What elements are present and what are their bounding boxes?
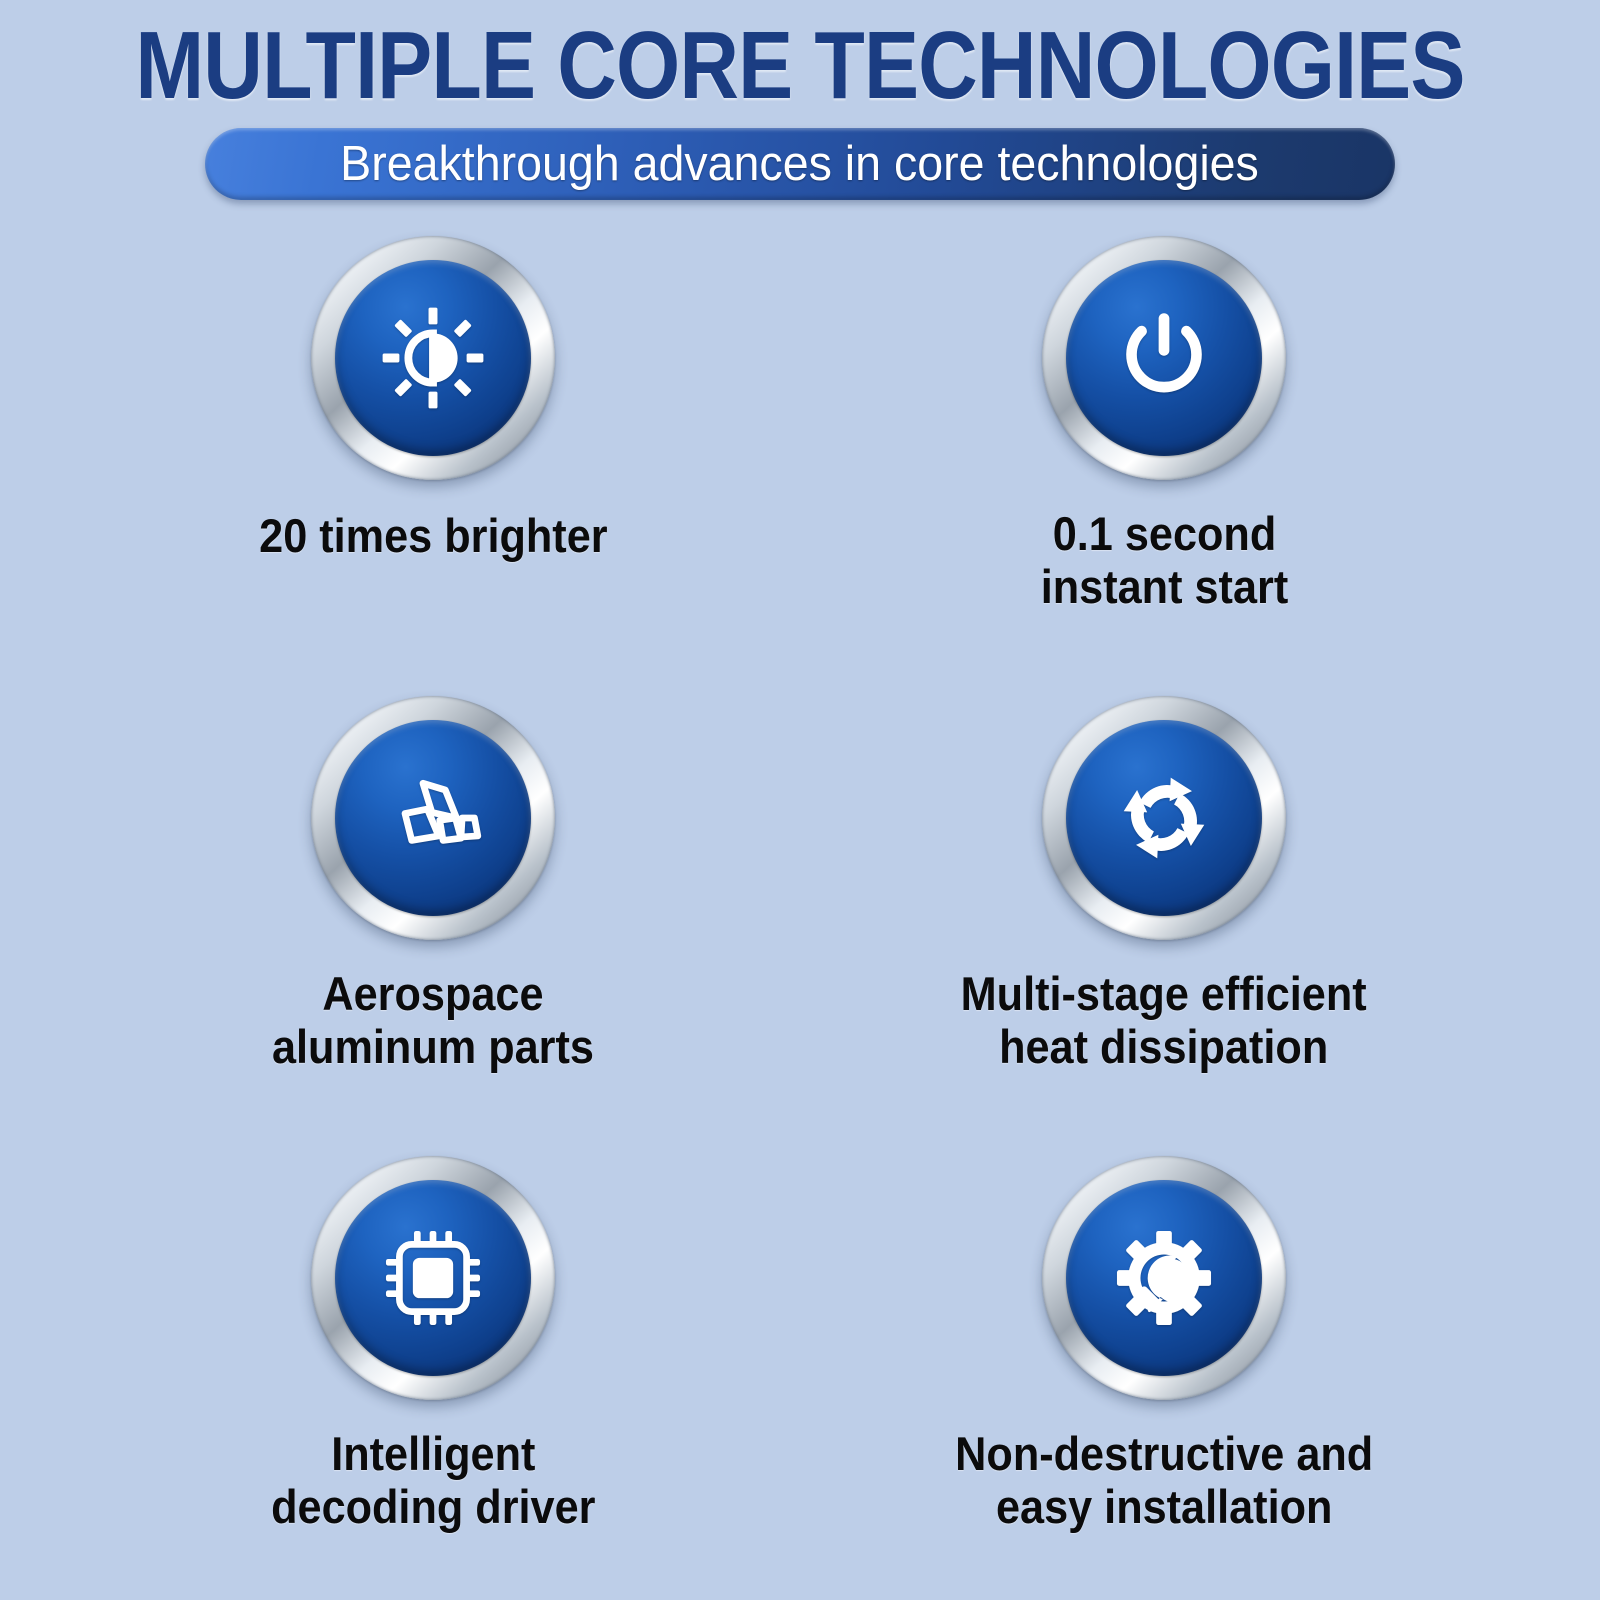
badge-inner [1066,260,1262,456]
feature-label: 20 times brighter [259,510,607,563]
brightness-icon [377,302,489,414]
badge-heat-dissipation[interactable] [1042,696,1286,940]
badge-inner [1066,720,1262,916]
subtitle-banner: Breakthrough advances in core technologi… [205,128,1395,200]
feature-label: Multi-stage efficient heat dissipation [961,968,1367,1073]
badge-brightness[interactable] [311,236,555,480]
feature-label: Aerospace aluminum parts [272,968,594,1073]
subtitle-text: Breakthrough advances in core technologi… [341,136,1260,192]
power-icon [1108,302,1220,414]
circular-arrows-icon [1108,762,1220,874]
badge-cpu[interactable] [311,1156,555,1400]
metal-ingots-icon [377,762,489,874]
feature-cell-aluminum[interactable]: Aerospace aluminum parts [0,696,800,1156]
feature-cell-heat-dissipation[interactable]: Multi-stage efficient heat dissipation [800,696,1600,1156]
gear-wrench-icon [1108,1222,1220,1334]
page-title: MULTIPLE CORE TECHNOLOGIES [112,18,1488,114]
badge-inner [1066,1180,1262,1376]
feature-grid: 20 times brighter 0.1 second instant sta… [0,236,1600,1596]
feature-cell-brightness[interactable]: 20 times brighter [0,236,800,696]
badge-inner [335,720,531,916]
badge-installation[interactable] [1042,1156,1286,1400]
feature-label: 0.1 second instant start [1040,508,1287,613]
badge-power[interactable] [1042,236,1286,480]
feature-cell-installation[interactable]: Non-destructive and easy installation [800,1156,1600,1596]
header: MULTIPLE CORE TECHNOLOGIES Breakthrough … [0,0,1600,200]
feature-label: Intelligent decoding driver [271,1428,595,1533]
feature-label: Non-destructive and easy installation [955,1428,1373,1533]
badge-inner [335,260,531,456]
feature-cell-decoding-driver[interactable]: Intelligent decoding driver [0,1156,800,1596]
badge-aluminum[interactable] [311,696,555,940]
badge-inner [335,1180,531,1376]
feature-cell-instant-start[interactable]: 0.1 second instant start [800,236,1600,696]
cpu-chip-icon [377,1222,489,1334]
